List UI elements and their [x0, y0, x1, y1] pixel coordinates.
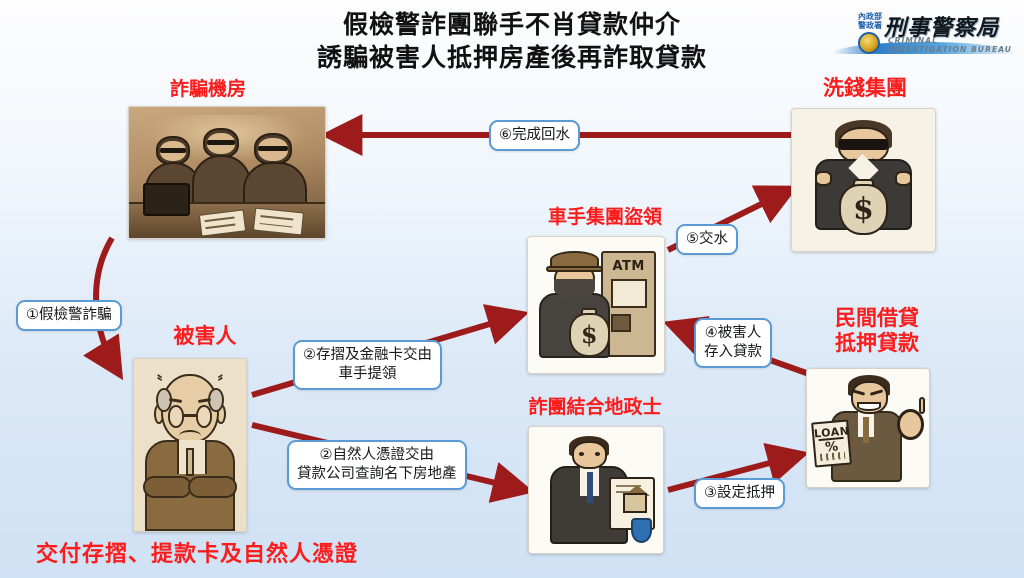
- callout-step-2a-line-1: ②存摺及金融卡交由: [303, 346, 432, 365]
- node-call-center-label: 詐騙機房: [170, 78, 246, 101]
- callout-step-6-text: ⑥完成回水: [499, 127, 570, 143]
- man-with-money-bag-icon: $: [792, 109, 935, 251]
- node-money-laundering-label: 洗錢集團: [790, 76, 940, 101]
- node-private-loan-illustration: LOAN %: [806, 368, 930, 488]
- ok-hand-icon: [897, 409, 924, 440]
- callout-step-3-text: ③設定抵押: [704, 485, 775, 501]
- police-seal-icon: [858, 32, 880, 54]
- callout-step-4-line-1: ④被害人: [704, 324, 762, 343]
- node-call-center-label-wrap: 詐騙機房: [170, 78, 246, 101]
- node-victim-illustration: 〝 〞: [133, 358, 247, 532]
- callout-step-2a[interactable]: ②存摺及金融卡交由 車手提領: [293, 340, 442, 390]
- node-victim-label-wrap: 被害人: [140, 324, 270, 349]
- logo-bureau-name-en: CRIMINAL INVESTIGATION BUREAU: [888, 36, 1018, 54]
- callout-step-4[interactable]: ④被害人 存入貸款: [694, 318, 772, 368]
- atm-label: ATM: [603, 259, 653, 274]
- callout-step-2b-line-2: 貸款公司查詢名下房地產: [297, 465, 457, 484]
- node-mule-group-label: 車手集團盜領: [520, 206, 690, 229]
- node-money-laundering-label-wrap: 洗錢集團: [790, 76, 940, 101]
- node-land-agent-illustration: [528, 426, 664, 554]
- node-money-laundering-illustration: $: [791, 108, 936, 252]
- grinning-man-with-loan-paper-icon: LOAN %: [807, 369, 929, 487]
- callout-step-2b[interactable]: ②自然人憑證交由 貸款公司查詢名下房地產: [287, 440, 467, 490]
- node-private-loan-label-1: 民間借貸: [812, 306, 942, 331]
- atm-machine-icon: ATM: [601, 251, 655, 357]
- callout-step-5-text: ⑤交水: [686, 231, 728, 247]
- node-mule-group-label-wrap: 車手集團盜領: [520, 206, 690, 229]
- loan-paper-icon: LOAN %: [811, 419, 851, 467]
- suited-man-with-document-icon: [529, 427, 663, 553]
- node-private-loan-label-2: 抵押貸款: [812, 331, 942, 356]
- callout-step-1[interactable]: ①假檢警詐騙: [16, 300, 122, 331]
- callout-step-3[interactable]: ③設定抵押: [694, 478, 785, 509]
- node-land-agent-label-wrap: 詐團結合地政士: [505, 396, 685, 419]
- node-victim-label: 被害人: [140, 324, 270, 349]
- node-call-center-illustration: [128, 106, 326, 239]
- worried-elderly-man-icon: 〝 〞: [134, 359, 246, 531]
- dollar-sign-icon: $: [569, 317, 610, 352]
- shield-icon: [631, 518, 652, 543]
- node-mule-group-illustration: ATM $: [527, 236, 665, 374]
- callout-step-2a-line-2: 車手提領: [303, 365, 432, 384]
- callout-step-5[interactable]: ⑤交水: [676, 224, 738, 255]
- node-land-agent-label: 詐團結合地政士: [505, 396, 685, 419]
- cib-logo: 內政部 警政署 刑事警察局 CRIMINAL INVESTIGATION BUR…: [832, 8, 1018, 56]
- fraud-call-center-icon: [129, 107, 325, 238]
- dollar-sign-icon: $: [839, 190, 888, 230]
- logo-agency-small: 內政部 警政署: [848, 12, 882, 30]
- callout-step-2b-line-1: ②自然人憑證交由: [297, 446, 457, 465]
- callout-step-6[interactable]: ⑥完成回水: [489, 120, 580, 151]
- bottom-note: 交付存摺、提款卡及自然人憑證: [36, 536, 358, 568]
- node-private-loan-label-wrap: 民間借貸 抵押貸款: [812, 306, 942, 356]
- house-icon: [623, 493, 647, 513]
- callout-step-4-line-2: 存入貸款: [704, 343, 762, 362]
- callout-step-1-text: ①假檢警詐騙: [26, 307, 112, 323]
- masked-man-at-atm-icon: ATM $: [528, 237, 664, 373]
